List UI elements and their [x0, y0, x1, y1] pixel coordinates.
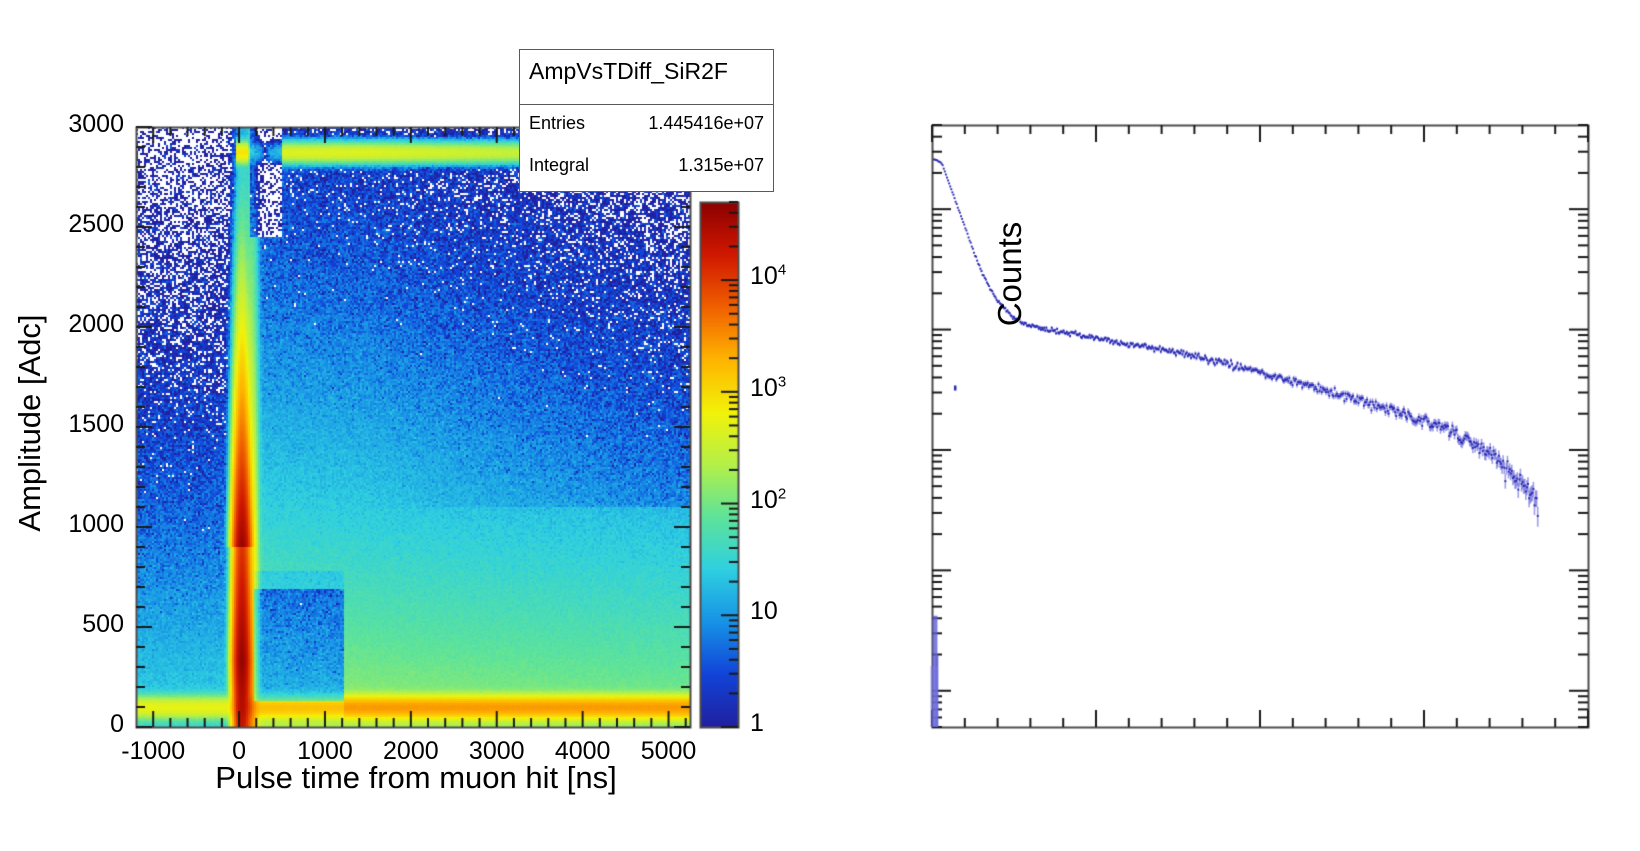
stats-row-integral: Integral 1.315e+07	[520, 134, 773, 176]
y-tick-label-1: 500	[82, 610, 124, 639]
z-tick-label-0: 1	[750, 709, 764, 738]
panel-energy-deposit: Energy deposit in the active target afte…	[820, 0, 1640, 851]
stats-box-left: AmpVsTDiff_SiR2F Entries 1.445416e+07 In…	[519, 49, 774, 192]
y-axis-title-right: Counts	[991, 144, 1029, 404]
y-tick-label-4: 2000	[68, 310, 124, 339]
x-tick-label-1: 0	[232, 737, 246, 766]
x-tick-label-4: 3000	[469, 737, 525, 766]
x-tick-label-5: 4000	[555, 737, 611, 766]
y-tick-label-0: 0	[110, 710, 124, 739]
panel-amplitude-vs-timing: Pulse amplitude Vs timing - TFA out from…	[0, 0, 820, 851]
stats-entries-value: 1.445416e+07	[648, 113, 764, 134]
z-tick-label-1: 10	[750, 597, 778, 626]
stats-entries-label: Entries	[529, 113, 585, 134]
y-axis-title: Amplitude [Adc]	[12, 188, 48, 658]
y-tick-label-3: 1500	[68, 410, 124, 439]
stats-histogram-name: AmpVsTDiff_SiR2F	[520, 50, 773, 105]
z-tick-label-2: 102	[750, 486, 786, 515]
y-tick-label-2: 1000	[68, 510, 124, 539]
z-tick-label-3: 103	[750, 374, 786, 403]
y-tick-label-6: 3000	[68, 110, 124, 139]
stats-row-entries: Entries 1.445416e+07	[520, 105, 773, 134]
z-tick-label-4: 104	[750, 262, 786, 291]
x-tick-label-3: 2000	[383, 737, 439, 766]
figure-root: Pulse amplitude Vs timing - TFA out from…	[0, 0, 1640, 851]
spectrum-canvas	[820, 0, 1640, 851]
x-tick-label-2: 1000	[297, 737, 353, 766]
stats-integral-value: 1.315e+07	[678, 155, 764, 176]
stats-integral-label: Integral	[529, 155, 589, 176]
x-tick-label-0: -1000	[121, 737, 185, 766]
x-tick-label-6: 5000	[641, 737, 697, 766]
y-tick-label-5: 2500	[68, 210, 124, 239]
